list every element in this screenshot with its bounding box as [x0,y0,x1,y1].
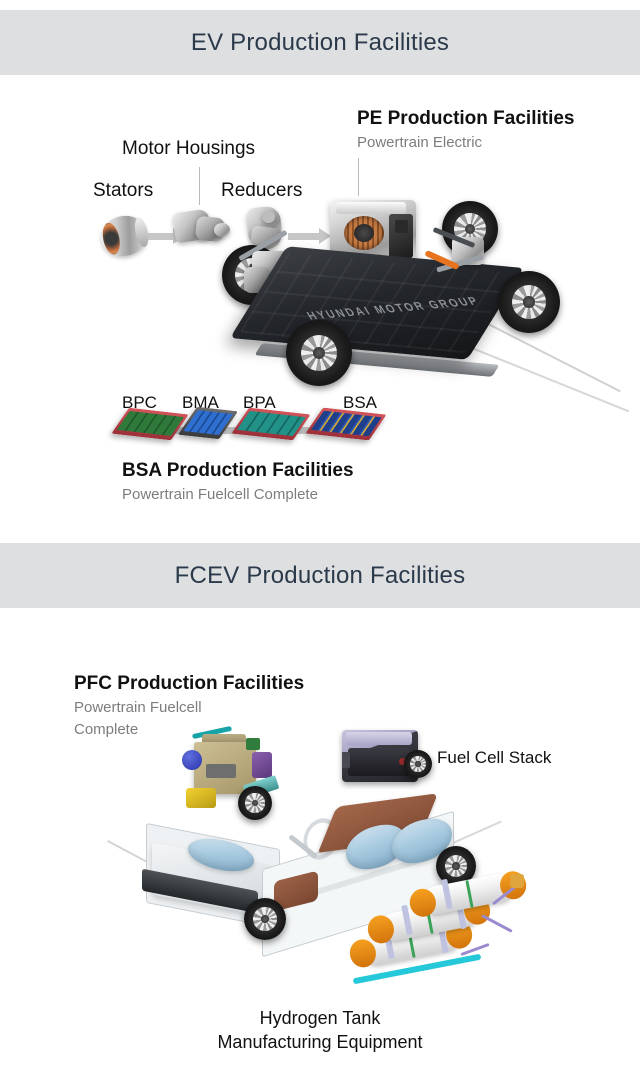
leader-line-pe [358,158,359,196]
hydrogen-tank-caption: Hydrogen Tank Manufacturing Equipment [217,1006,422,1054]
label-stators: Stators [93,180,153,202]
pfc-blue-motor [182,750,202,770]
pe-unit-chip [395,220,408,233]
equipment-wire-2 [481,914,512,933]
pfc-subtitle-line2: Complete [74,720,138,740]
motor-housing-shaft [214,223,230,237]
label-fuel-cell-stack: Fuel Cell Stack [437,748,551,768]
hydrogen-tank-equipment [340,888,560,998]
section-header-fcev: FCEV Production Facilities [0,543,640,608]
pfc-title: PFC Production Facilities [74,673,304,695]
fcev-diagram: PFC Production Facilities Powertrain Fue… [0,608,640,1089]
flow-arrow-2 [288,233,320,240]
pfc-panel [206,764,236,778]
wheel-front-left [286,320,352,386]
pfc-subtitle-line1: Powertrain Fuelcell [74,698,202,718]
wheel-hub [261,915,269,923]
fcev-section-title: FCEV Production Facilities [175,562,466,590]
pe-title: PE Production Facilities [357,108,575,130]
fcev-wheel-front-left [244,898,286,940]
stator-part [97,212,150,261]
fcev-wheel-front-right [238,786,272,820]
wheel-rear-right [498,271,560,333]
reducer-gear [262,211,275,223]
equipment-valve [510,874,524,888]
wheel-hub [465,224,475,234]
ev-diagram: Stators Motor Housings Reducers PE Produ… [0,75,640,535]
pe-unit-top [336,202,406,214]
page-root: EV Production Facilities Stators Motor H… [0,0,640,1089]
label-motor-housings: Motor Housings [122,138,255,160]
wheel-hub [313,347,325,359]
wheel-hub [523,296,534,307]
module-bsa [305,408,386,441]
section-header-ev: EV Production Facilities [0,10,640,75]
ev-section-title: EV Production Facilities [191,29,449,57]
label-reducers: Reducers [221,180,302,202]
pfc-green-module [246,738,260,750]
pe-unit-shaft [354,224,374,242]
flow-arrow-1 [148,233,174,240]
pfc-purple-module [252,752,272,778]
fcs-port [342,752,350,768]
pe-subtitle: Powertrain Electric [357,133,482,153]
leader-line-motor-housings [199,167,200,205]
fcs-lid [346,732,412,745]
bsa-title: BSA Production Facilities [122,460,354,482]
wheel-hub [452,862,459,869]
pfc-yellow-module [186,788,216,808]
fcev-wheel-rear-right [404,750,432,778]
bsa-subtitle: Powertrain Fuelcell Complete [122,485,318,505]
wheel-hub [415,761,420,766]
